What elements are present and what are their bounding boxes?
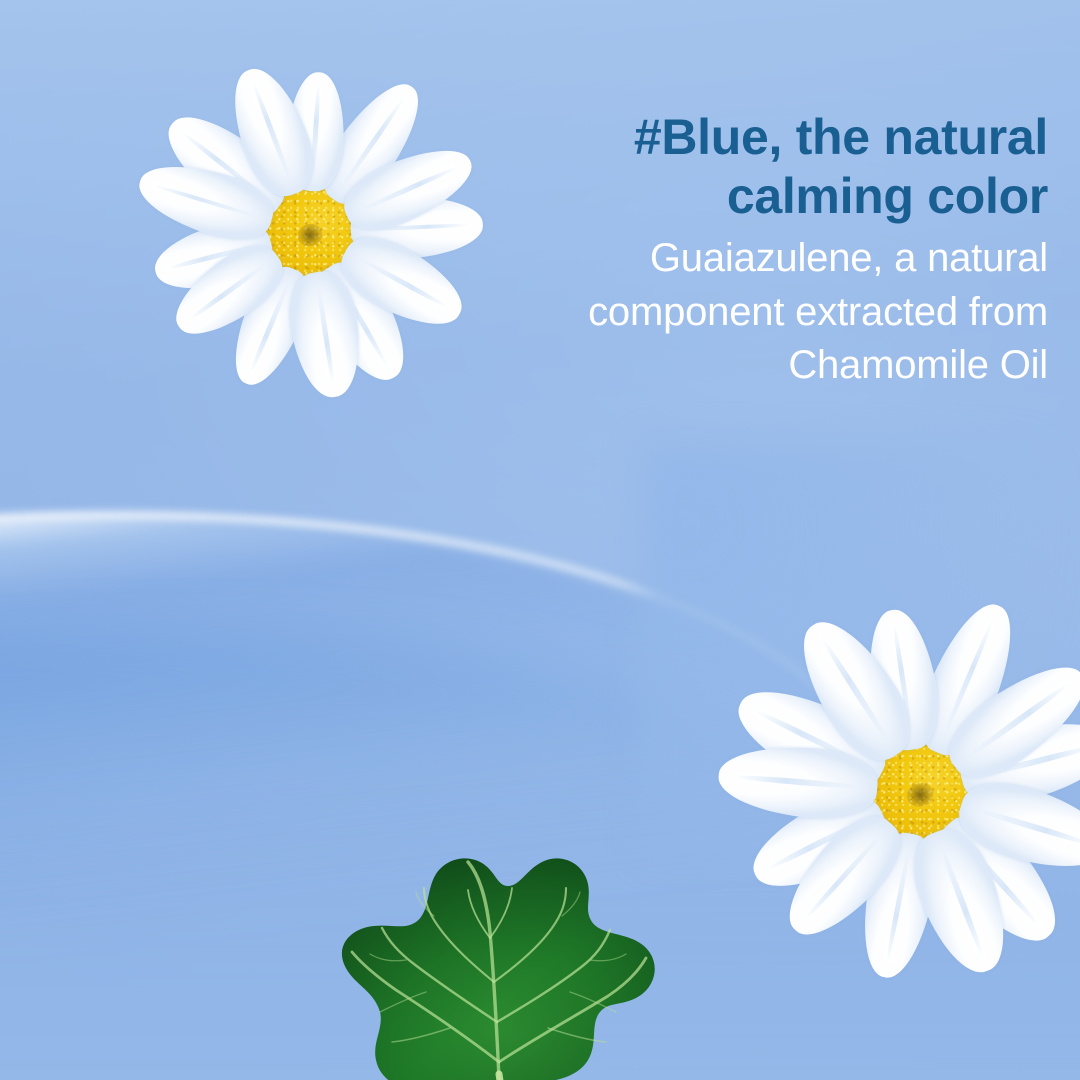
leaf-stem xyxy=(499,1074,503,1080)
green-leaf xyxy=(300,812,696,1080)
body-line-2: component extracted from xyxy=(588,290,1048,334)
promo-image-canvas: #Blue, the natural calming color Guaiazu… xyxy=(0,0,1080,1080)
body-copy: Guaiazulene, a natural component extract… xyxy=(488,232,1048,393)
body-line-3: Chamomile Oil xyxy=(788,343,1048,387)
copy-block: #Blue, the natural calming color Guaiazu… xyxy=(488,108,1048,393)
headline-line-1: #Blue, the natural xyxy=(634,109,1048,165)
body-line-1: Guaiazulene, a natural xyxy=(650,236,1048,280)
headline: #Blue, the natural calming color xyxy=(488,108,1048,226)
headline-line-2: calming color xyxy=(727,168,1048,224)
